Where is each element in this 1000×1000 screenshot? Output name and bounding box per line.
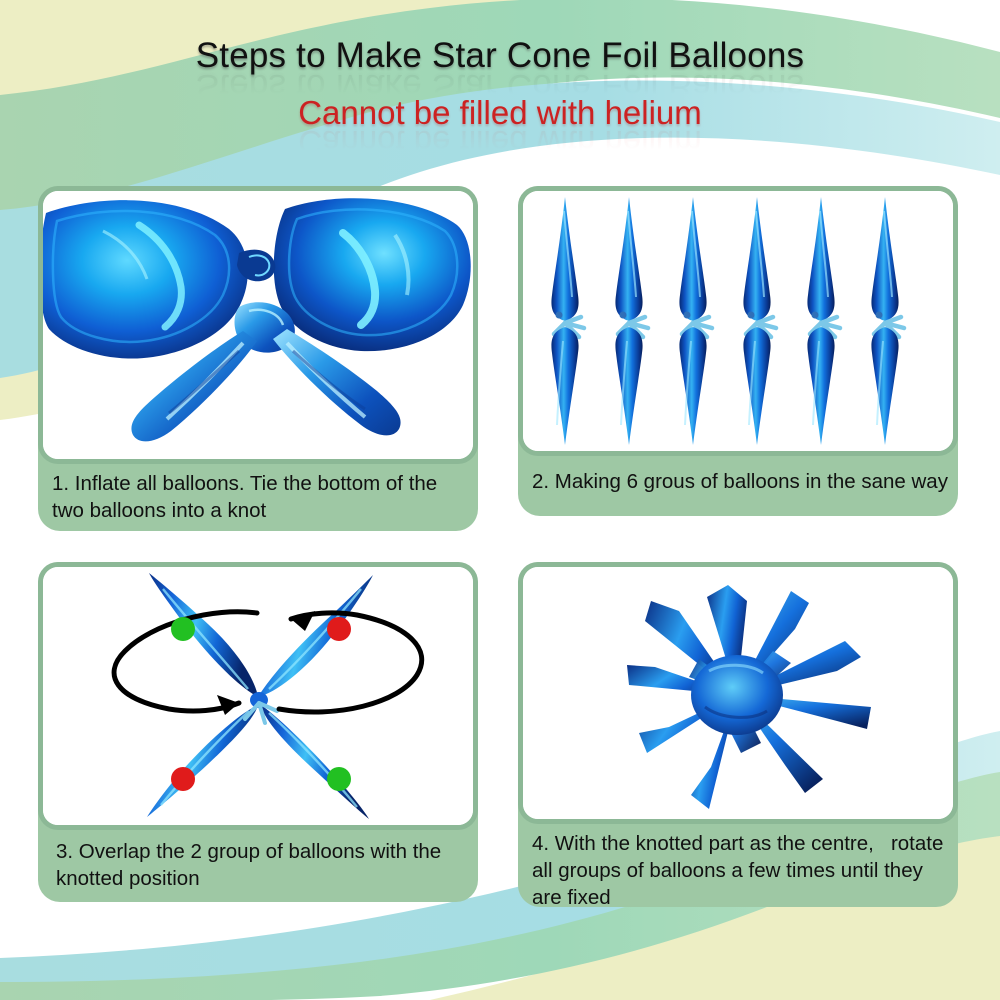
step-3-photo [38, 562, 478, 830]
step-card-3: 3. Overlap the 2 group of balloons with … [38, 562, 478, 902]
six-pairs-of-cone-balloons-illustration [523, 191, 953, 451]
step-card-1: 1. Inflate all balloons. Tie the bottom … [38, 186, 478, 531]
marker-green-top-left [171, 617, 195, 641]
step-card-2: 2. Making 6 grous of balloons in the san… [518, 186, 958, 516]
two-inflated-foil-balloons-knotted-illustration [43, 191, 473, 459]
page-title-text: Steps to Make Star Cone Foil Balloons [196, 36, 805, 75]
finished-blue-star-cone-balloon-illustration [523, 567, 953, 819]
marker-red-top-right [327, 617, 351, 641]
step-4-photo [518, 562, 958, 824]
step-2-caption: 2. Making 6 grous of balloons in the san… [532, 468, 952, 495]
page-subtitle-text: Cannot be filled with helium [298, 94, 702, 131]
step-2-photo [518, 186, 958, 456]
step-1-caption: 1. Inflate all balloons. Tie the bottom … [52, 470, 472, 524]
step-3-caption: 3. Overlap the 2 group of balloons with … [56, 838, 471, 892]
marker-green-bottom-right [327, 767, 351, 791]
step-card-4: 4. With the knotted part as the centre, … [518, 562, 958, 907]
page-subtitle: Cannot be filled with helium Cannot be f… [0, 94, 1000, 132]
marker-red-bottom-left [171, 767, 195, 791]
two-groups-overlapped-with-rotation-arrows-illustration [43, 567, 473, 825]
step-4-caption: 4. With the knotted part as the centre, … [532, 830, 957, 911]
step-1-photo [38, 186, 478, 464]
page-title: Steps to Make Star Cone Foil Balloons St… [0, 36, 1000, 76]
